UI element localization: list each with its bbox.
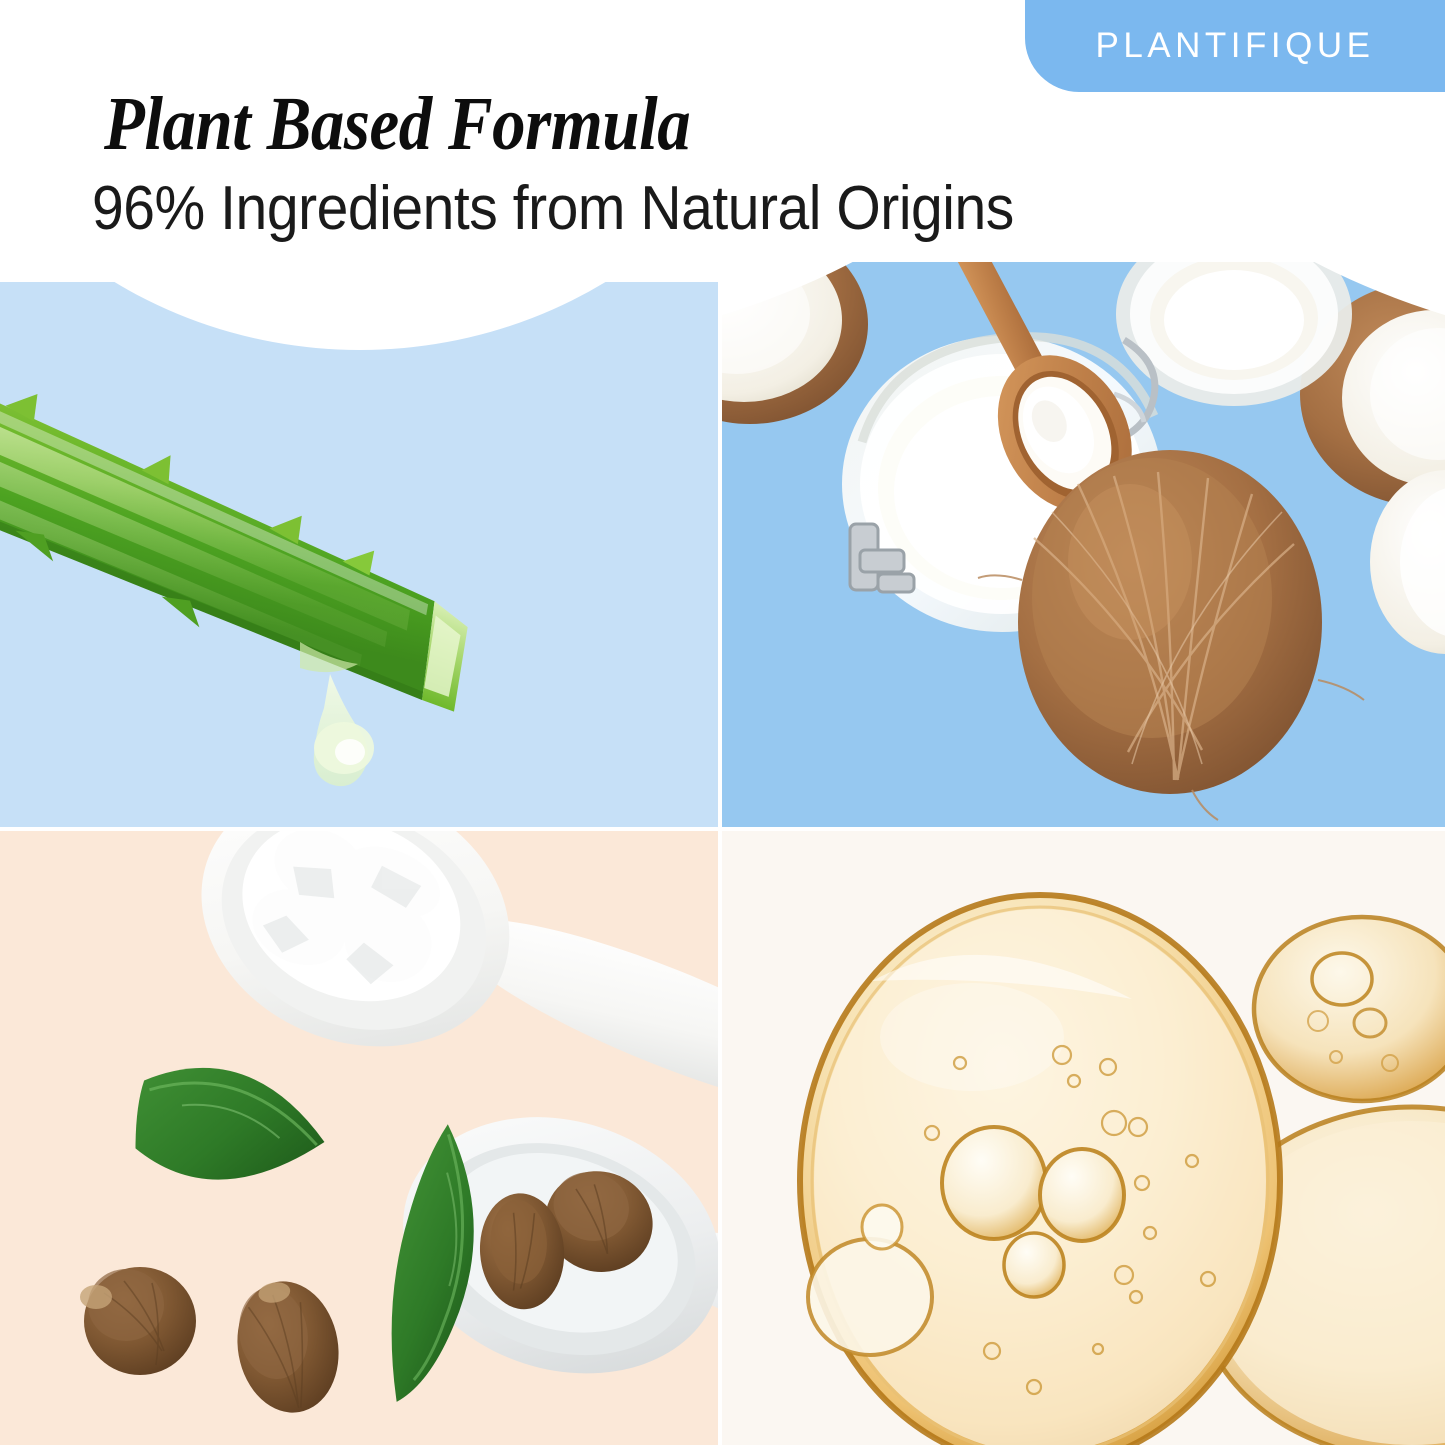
vitamin-e-oil-bubbles-image <box>722 831 1445 1445</box>
page-subtitle: 96% Ingredients from Natural Origins <box>92 178 1014 240</box>
page-title: Plant Based Formula <box>104 86 690 162</box>
aloe-vera-leaf-image <box>0 282 718 827</box>
panel-coconut-oil: Coconut Oil Nourishes rough skin <box>722 262 1445 827</box>
panel-aloe-vera: Aloe Vera Fights Dryness <box>0 282 718 827</box>
brand-badge: PLANTIFIQUE <box>1025 0 1445 92</box>
panel-shea-butter: Shea Butter Soothes & Softens <box>0 831 718 1445</box>
coconut-oil-image <box>722 262 1445 827</box>
infographic-canvas: Aloe Vera Fights Dryness <box>0 0 1445 1445</box>
panel-vitamin-e: Vitamin E Hydrates dry skin <box>722 831 1445 1445</box>
brand-name: PLANTIFIQUE <box>1096 26 1375 66</box>
shea-butter-image <box>0 831 718 1445</box>
